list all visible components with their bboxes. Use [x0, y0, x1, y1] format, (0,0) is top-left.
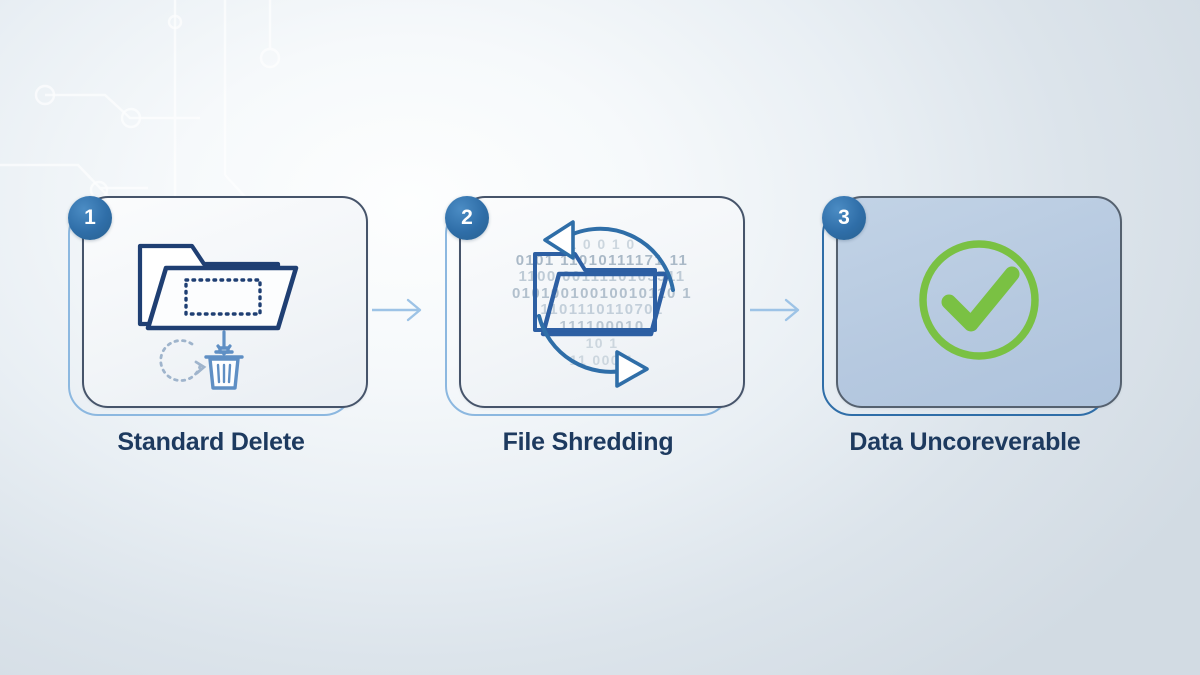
step-label-3: Data Uncoreverable — [800, 428, 1130, 457]
step-card-3[interactable]: 3 Data Uncoreverable — [822, 196, 1122, 436]
card-body-1 — [82, 196, 368, 408]
step-label-2: File Shredding — [423, 428, 753, 457]
step-badge-3: 3 — [822, 196, 866, 240]
arrow-step1-to-step2 — [372, 296, 432, 324]
arrow-step2-to-step3 — [750, 296, 810, 324]
green-check-circle-icon — [854, 212, 1104, 392]
card-body-2: 1 0 0 1 0 0101 11010111171 11 1100 00111… — [459, 196, 745, 408]
step-label-1: Standard Delete — [46, 428, 376, 457]
folder-with-trash-icon — [100, 212, 350, 392]
step-badge-2: 2 — [445, 196, 489, 240]
folder-shred-cycle-icon — [477, 212, 727, 392]
card-body-3 — [836, 196, 1122, 408]
file-shredding-icon-area: 1 0 0 1 0 0101 11010111171 11 1100 00111… — [477, 212, 727, 392]
process-flow: 1 Standard Delete 1 0 0 1 0 0101 1101011… — [0, 0, 1200, 675]
step-badge-1: 1 — [68, 196, 112, 240]
step-card-1[interactable]: 1 Standard Delete — [68, 196, 368, 436]
step-card-2[interactable]: 1 0 0 1 0 0101 11010111171 11 1100 00111… — [445, 196, 745, 436]
diagram-canvas: 1 Standard Delete 1 0 0 1 0 0101 1101011… — [0, 0, 1200, 675]
standard-delete-icon-area — [100, 212, 350, 392]
data-unrecoverable-icon-area — [854, 212, 1104, 392]
